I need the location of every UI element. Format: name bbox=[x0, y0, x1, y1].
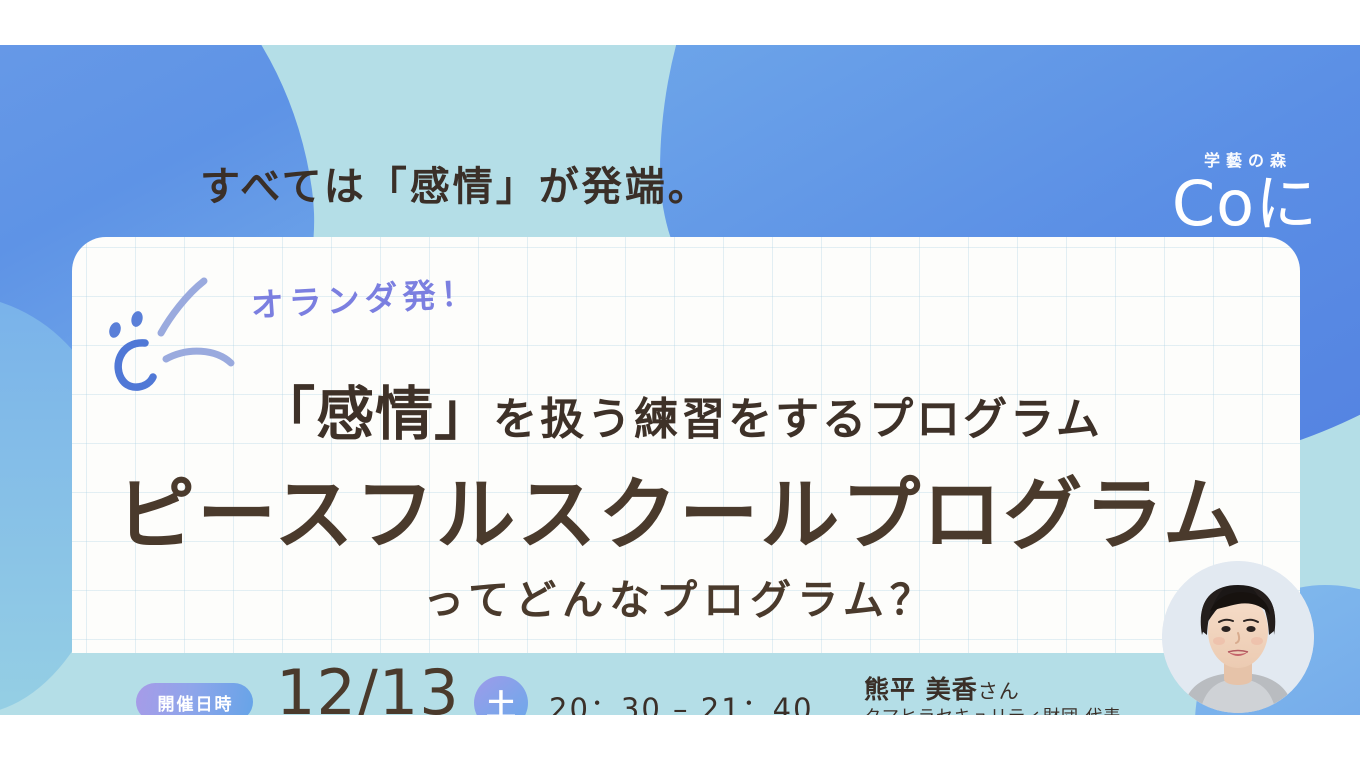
title-line-1-quote: 「感情」 bbox=[257, 380, 493, 448]
event-poster: すべては「感情」が発端。 学藝の森 Coに オランダ発！ 「感情」を扱う練習をす… bbox=[0, 0, 1360, 762]
speaker-honorific: さん bbox=[978, 679, 1020, 703]
title-line-1-rest: を扱う練習をするプログラム bbox=[493, 394, 1103, 445]
speaker-name: 熊平 美香 bbox=[864, 675, 978, 704]
poster-stage: すべては「感情」が発端。 学藝の森 Coに オランダ発！ 「感情」を扱う練習をす… bbox=[0, 45, 1360, 715]
event-time-range: 20：30 – 21：40 bbox=[549, 686, 814, 715]
letterbox-bottom bbox=[0, 715, 1360, 762]
speaker-title: クマヒラセキュリティ財団 代表 bbox=[864, 705, 1121, 715]
event-weekday-badge: 土 bbox=[474, 676, 528, 715]
title-line-1: 「感情」を扱う練習をするプログラム bbox=[0, 367, 1360, 451]
speaker-portrait-icon bbox=[1162, 561, 1314, 713]
title-line-2: ピースフルスクールプログラム bbox=[0, 450, 1360, 565]
title-line-3: ってどんなプログラム？ bbox=[0, 566, 1360, 626]
letterbox-top bbox=[0, 0, 1360, 45]
brand-logo: 学藝の森 Coに bbox=[1155, 153, 1335, 234]
speaker-name-row: 熊平 美香さん bbox=[864, 674, 1121, 705]
brand-logo-mark: Coに bbox=[1155, 175, 1335, 234]
page-headline: すべては「感情」が発端。 bbox=[200, 154, 711, 212]
event-date: 12/13 bbox=[276, 662, 460, 715]
speaker-info: 熊平 美香さん クマヒラセキュリティ財団 代表 bbox=[864, 674, 1121, 715]
brand-logo-subtitle: 学藝の森 bbox=[1155, 153, 1335, 169]
event-info-row: 開催日時 12/13 土 20：30 – 21：40 熊平 美香さん クマヒラセ… bbox=[0, 665, 1360, 715]
event-date-badge: 開催日時 bbox=[136, 683, 253, 715]
